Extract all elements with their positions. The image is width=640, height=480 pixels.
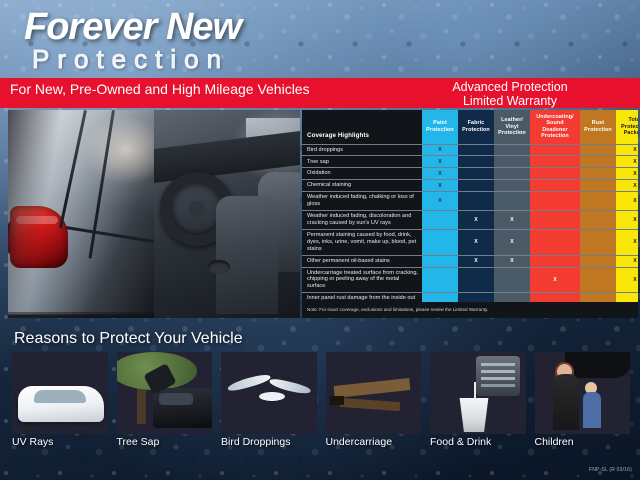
row-label: Weather induced fading, chalking or loss…	[302, 192, 422, 211]
header: Forever New Protection	[0, 0, 640, 78]
reason-item-uv-rays: UV Rays	[12, 352, 108, 450]
adult-body-shape	[553, 374, 579, 430]
row-label: Other permanent oil-based stains	[302, 255, 422, 267]
cell-empty-leather	[494, 192, 530, 211]
col-total-line3: Package	[624, 130, 638, 136]
window-pillar-shape	[89, 110, 115, 259]
column-header-undercoating-protection: Undercoating/ Sound Deadener Protection	[530, 110, 580, 144]
col-under-line4: Protection	[541, 133, 569, 139]
page-subtitle: Protection	[32, 44, 229, 75]
row-label: Oxidation	[302, 168, 422, 180]
cell-covered-total: X	[616, 156, 638, 168]
cell-covered-paint: X	[422, 168, 458, 180]
cell-empty-undercoating	[530, 156, 580, 168]
col-rust-line1: Rust	[592, 120, 604, 126]
cell-empty-rust	[580, 180, 616, 192]
warranty-title-line2: Limited Warranty	[380, 94, 640, 108]
table-row: Bird droppingsXX	[302, 144, 638, 156]
warranty-title-line1: Advanced Protection	[380, 80, 640, 94]
open-tailgate-shape	[565, 352, 631, 378]
cell-covered-fabric: X	[458, 229, 494, 255]
column-header-rust-protection: Rust Protection	[580, 110, 616, 144]
column-header-paint-protection: Paint Protection	[422, 110, 458, 144]
cell-empty-rust	[580, 229, 616, 255]
cell-covered-fabric: X	[458, 255, 494, 267]
table-row: Weather induced fading, chalking or loss…	[302, 192, 638, 211]
col-under-line1: Undercoating/	[536, 114, 574, 120]
bird-droppings-photo	[221, 352, 317, 434]
banner-tagline: For New, Pre-Owned and High Mileage Vehi…	[10, 81, 310, 97]
cell-empty-undercoating	[530, 211, 580, 230]
children-photo	[535, 352, 631, 434]
cell-covered-paint: X	[422, 180, 458, 192]
reason-caption: UV Rays	[12, 436, 108, 448]
cell-empty-rust	[580, 144, 616, 156]
cell-empty-undercoating	[530, 192, 580, 211]
reason-caption: Bird Droppings	[221, 436, 317, 448]
cell-empty-undercoating	[530, 144, 580, 156]
column-header-coverage-highlights: Coverage Highlights	[302, 110, 422, 144]
cell-empty-leather	[494, 180, 530, 192]
poster-root: Forever New Protection For New, Pre-Owne…	[0, 0, 640, 480]
reason-caption: Tree Sap	[117, 436, 213, 448]
col-fabric-line2: Protection	[462, 127, 490, 133]
table-row: Other permanent oil-based stainsXXX	[302, 255, 638, 267]
page-title: Forever New	[24, 6, 241, 49]
white-suv-shape	[18, 386, 104, 422]
cell-covered-fabric: X	[458, 211, 494, 230]
reasons-photo-strip: UV Rays Tree Sap Bird Droppings	[12, 352, 630, 450]
col-rust-line2: Protection	[584, 127, 612, 133]
food-and-drink-photo	[430, 352, 526, 434]
cell-covered-leather: X	[494, 255, 530, 267]
col-paint-line2: Protection	[426, 127, 454, 133]
row-label: Undercarriage treated surface from crack…	[302, 267, 422, 293]
table-row: Undercarriage treated surface from crack…	[302, 267, 638, 293]
col-paint-line1: Paint	[433, 120, 447, 126]
tree-sap-photo	[117, 352, 213, 434]
table-header-row: Coverage Highlights Paint Protection Fab…	[302, 110, 638, 144]
chassis-beam-shape	[339, 398, 399, 411]
cell-empty-fabric	[458, 144, 494, 156]
cell-empty-rust	[580, 255, 616, 267]
cell-empty-leather	[494, 144, 530, 156]
uv-rays-photo	[12, 352, 108, 434]
drink-cup-shape	[456, 398, 492, 432]
car-interior-photo	[154, 110, 300, 318]
cell-covered-total: X	[616, 229, 638, 255]
car-exterior-photo	[8, 110, 154, 318]
table-row: Chemical stainingXX	[302, 180, 638, 192]
taillight-shape	[10, 206, 68, 268]
coverage-table: Coverage Highlights Paint Protection Fab…	[302, 110, 638, 318]
bird-body-shape	[259, 392, 285, 401]
row-label: Tree sap	[302, 156, 422, 168]
reason-item-undercarriage: Undercarriage	[326, 352, 422, 450]
child-body-shape	[583, 392, 601, 428]
cell-covered-total: X	[616, 192, 638, 211]
cell-empty-undercoating	[530, 255, 580, 267]
driver-seat-shape	[216, 196, 278, 314]
undercarriage-photo	[326, 352, 422, 434]
cell-empty-undercoating	[530, 229, 580, 255]
cell-empty-paint	[422, 211, 458, 230]
center-console-shape	[476, 356, 520, 396]
cell-empty-rust	[580, 156, 616, 168]
cell-covered-total: X	[616, 180, 638, 192]
reason-caption: Undercarriage	[326, 436, 422, 448]
col-leather-line3: Protection	[498, 130, 526, 136]
cupholder-shape	[208, 260, 230, 274]
cell-empty-leather	[494, 156, 530, 168]
row-label: Permanent staining caused by food, drink…	[302, 229, 422, 255]
col-under-line3: Deadener	[542, 127, 567, 133]
table-footnote: Note: For exact coverage, exclusions and…	[302, 302, 638, 318]
table-row: OxidationXX	[302, 168, 638, 180]
cell-empty-paint	[422, 267, 458, 293]
reason-caption: Children	[535, 436, 631, 448]
col-leather-line1: Leather/	[501, 117, 523, 123]
cell-empty-rust	[580, 192, 616, 211]
cell-covered-total: X	[616, 255, 638, 267]
cell-covered-paint: X	[422, 192, 458, 211]
column-header-total-protection-package: Total Protection Package	[616, 110, 638, 144]
reason-item-food-drink: Food & Drink	[430, 352, 526, 450]
col-total-line2: Protection	[621, 124, 638, 130]
coverage-table-head: Coverage Highlights Paint Protection Fab…	[302, 110, 638, 144]
wheel-shape	[24, 425, 37, 434]
row-label: Chemical staining	[302, 180, 422, 192]
column-header-fabric-protection: Fabric Protection	[458, 110, 494, 144]
coverage-table-body: Bird droppingsXXTree sapXXOxidationXXChe…	[302, 144, 638, 318]
reason-caption: Food & Drink	[430, 436, 526, 448]
chassis-beam-shape	[333, 378, 410, 398]
table-row: Permanent staining caused by food, drink…	[302, 229, 638, 255]
cell-covered-total: X	[616, 144, 638, 156]
bird-wing-left-shape	[227, 372, 272, 393]
reason-item-children: Children	[535, 352, 631, 450]
cell-empty-fabric	[458, 192, 494, 211]
cell-empty-paint	[422, 255, 458, 267]
cell-empty-rust	[580, 168, 616, 180]
coverage-table-container: Coverage Highlights Paint Protection Fab…	[302, 110, 638, 318]
warranty-title: Advanced Protection Limited Warranty	[380, 78, 640, 108]
cell-covered-leather: X	[494, 211, 530, 230]
cell-empty-rust	[580, 267, 616, 293]
window-pillar-shape	[59, 110, 87, 228]
cell-covered-total: X	[616, 267, 638, 293]
door-seam-shape	[66, 226, 154, 245]
column-header-leather-vinyl-protection: Leather/ Vinyl Protection	[494, 110, 530, 144]
black-suv-shape	[153, 388, 213, 428]
col-fabric-line1: Fabric	[468, 120, 485, 126]
cell-covered-total: X	[616, 168, 638, 180]
row-label: Bird droppings	[302, 144, 422, 156]
cell-empty-leather	[494, 267, 530, 293]
wheel-shape	[74, 425, 87, 434]
reason-item-tree-sap: Tree Sap	[117, 352, 213, 450]
cell-covered-total: X	[616, 211, 638, 230]
cell-empty-fabric	[458, 180, 494, 192]
cell-covered-undercoating: X	[530, 267, 580, 293]
table-row: Weather induced fading, discoloration an…	[302, 211, 638, 230]
undercarriage-bracket-shape	[330, 396, 344, 405]
cell-empty-undercoating	[530, 180, 580, 192]
col-under-line2: Sound	[546, 120, 563, 126]
col-total-line1: Total	[629, 117, 639, 123]
cell-empty-rust	[580, 211, 616, 230]
reason-item-bird-droppings: Bird Droppings	[221, 352, 317, 450]
row-label: Weather induced fading, discoloration an…	[302, 211, 422, 230]
cell-covered-paint: X	[422, 156, 458, 168]
document-code: FNP-SL (R 03/16)	[589, 467, 632, 473]
cell-empty-leather	[494, 168, 530, 180]
cell-empty-fabric	[458, 156, 494, 168]
cell-empty-fabric	[458, 267, 494, 293]
cell-empty-paint	[422, 229, 458, 255]
cell-covered-paint: X	[422, 144, 458, 156]
hero-photo-block	[8, 110, 300, 318]
col-leather-line2: Vinyl	[505, 124, 518, 130]
table-row: Tree sapXX	[302, 156, 638, 168]
cell-covered-leather: X	[494, 229, 530, 255]
cell-empty-undercoating	[530, 168, 580, 180]
reasons-section-title: Reasons to Protect Your Vehicle	[14, 330, 243, 348]
cell-empty-fabric	[458, 168, 494, 180]
